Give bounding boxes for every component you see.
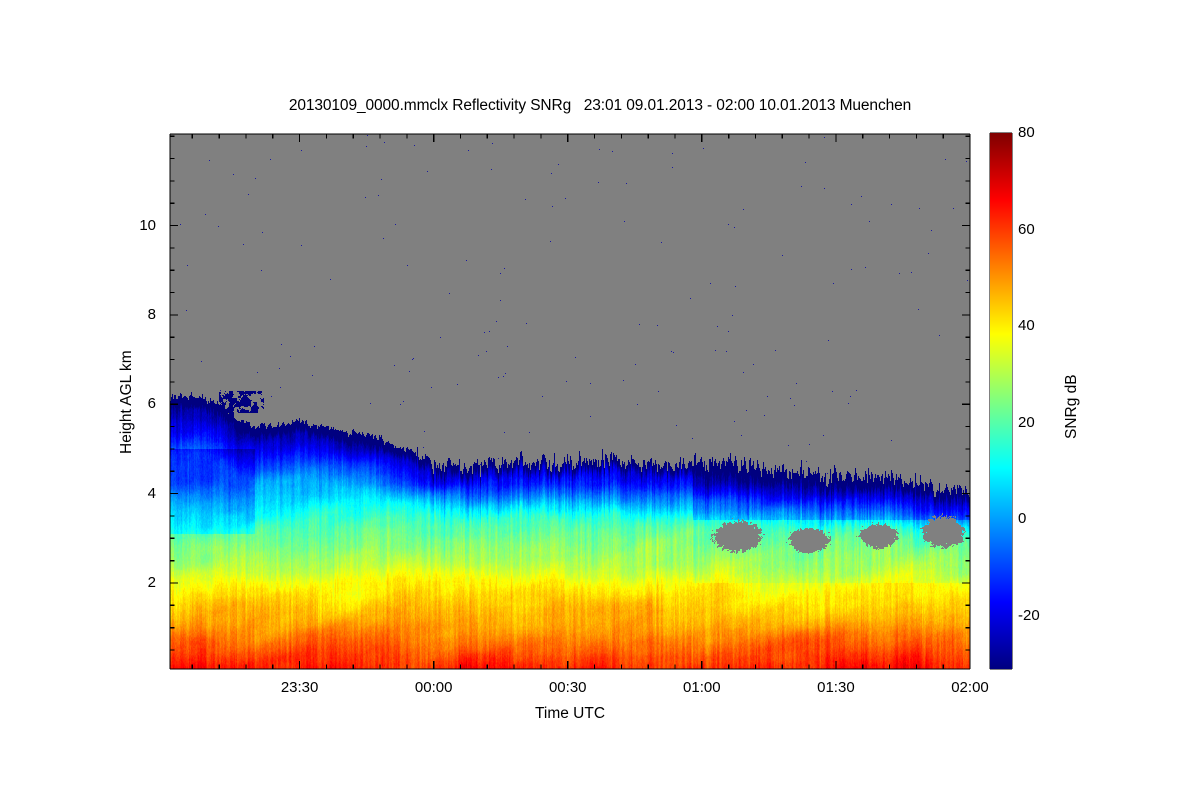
y-tick-label: 2: [0, 574, 156, 591]
colorbar-gradient: [990, 133, 1012, 669]
radar-figure: 20130109_0000.mmclx Reflectivity SNRg 23…: [0, 0, 1200, 800]
x-tick-label: 01:00: [657, 679, 747, 696]
colorbar-tick-label: 0: [1018, 510, 1026, 527]
x-tick-label: 23:30: [255, 679, 345, 696]
colorbar-tick-label: -20: [1018, 607, 1040, 624]
colorbar-label: SNRg dB: [1063, 374, 1081, 439]
colorbar-tick-label: 60: [1018, 221, 1035, 238]
x-axis-label: Time UTC: [0, 705, 1170, 723]
x-tick-label: 02:00: [925, 679, 1015, 696]
x-tick-label: 00:00: [389, 679, 479, 696]
y-tick-label: 4: [0, 485, 156, 502]
y-tick-label: 10: [0, 217, 156, 234]
figure-title: 20130109_0000.mmclx Reflectivity SNRg 23…: [0, 97, 1200, 115]
reflectivity-heatmap: [170, 134, 970, 669]
x-tick-label: 01:30: [791, 679, 881, 696]
y-tick-label: 8: [0, 306, 156, 323]
colorbar-tick-label: 80: [1018, 124, 1035, 141]
colorbar-tick-label: 20: [1018, 414, 1035, 431]
x-tick-label: 00:30: [523, 679, 613, 696]
colorbar-tick-label: 40: [1018, 317, 1035, 334]
y-axis-label: Height AGL km: [118, 350, 136, 454]
